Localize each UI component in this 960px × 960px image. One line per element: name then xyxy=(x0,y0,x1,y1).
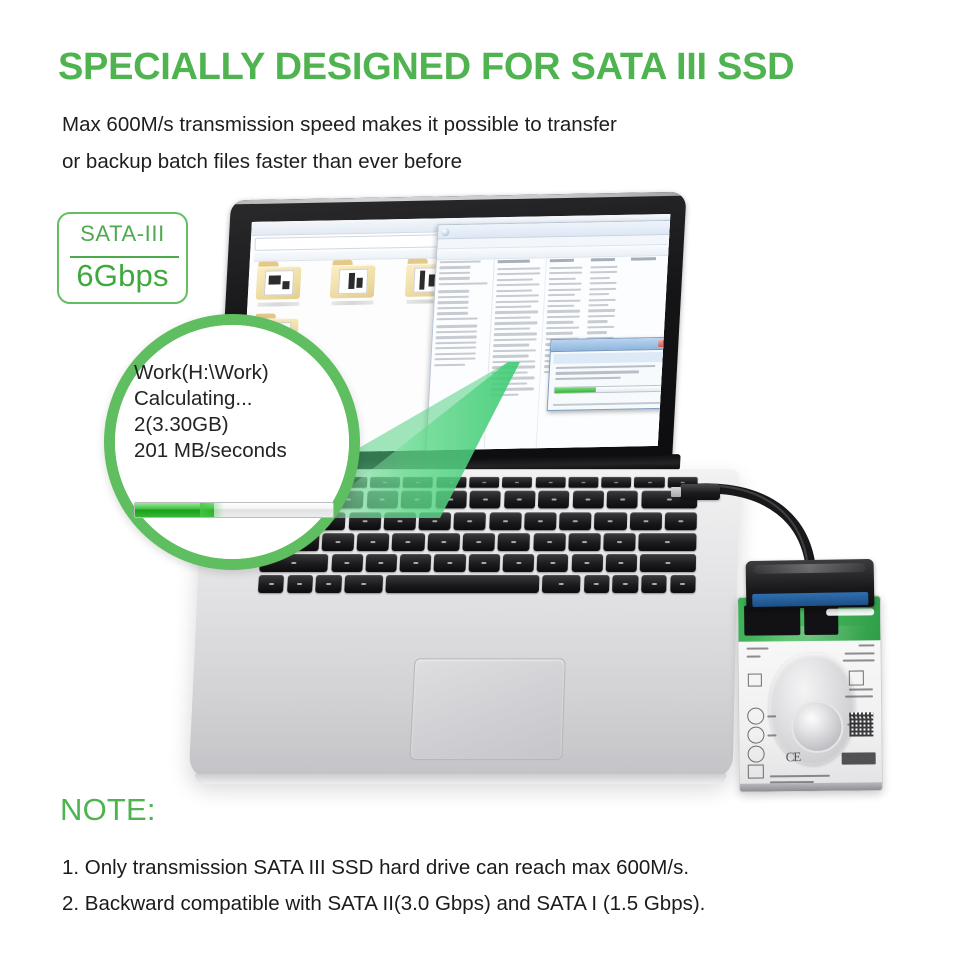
drive-brand-mark xyxy=(826,608,874,616)
note-heading: NOTE: xyxy=(60,792,156,828)
dialog-detail-row xyxy=(555,376,620,380)
folder-icon xyxy=(330,259,378,300)
dialog-heading xyxy=(553,352,666,364)
ssd-hard-drive: CE xyxy=(737,595,883,792)
transfer-progress-bar xyxy=(134,502,334,518)
drive-part-number-label xyxy=(842,752,876,764)
badge-speed-label: 6Gbps xyxy=(59,258,186,294)
dialog-titlebar xyxy=(551,338,670,352)
dialog-detail-row xyxy=(556,365,655,369)
dialog-detail-row xyxy=(556,371,639,375)
subheading-line-1: Max 600M/s transmission speed makes it p… xyxy=(62,115,882,136)
note-item-2: 2. Backward compatible with SATA II(3.0 … xyxy=(62,892,705,916)
transfer-speed: 201 MB/seconds xyxy=(134,438,339,463)
sata-connector xyxy=(752,592,868,607)
sata-speed-badge: SATA-III 6Gbps xyxy=(57,212,188,304)
dialog-progress-bar xyxy=(554,385,664,394)
certification-mark xyxy=(747,726,764,743)
subheading-line-2: or backup batch files faster than ever b… xyxy=(62,152,882,173)
badge-standard-label: SATA-III xyxy=(59,221,186,247)
back-nav-icon xyxy=(441,228,449,236)
transfer-progress-fill xyxy=(135,503,214,517)
dialog-footer-row xyxy=(553,402,660,406)
file-explorer-window-front xyxy=(425,220,670,452)
ce-mark-icon: CE xyxy=(786,749,801,765)
product-graphic: SPECIALLY DESIGNED FOR SATA III SSD Max … xyxy=(0,0,960,960)
warning-triangle-icon xyxy=(748,764,764,778)
folder-icon xyxy=(256,261,304,302)
transfer-size: 2(3.30GB) xyxy=(134,412,339,437)
drive-spindle-hub xyxy=(791,701,844,754)
drive-bottom-edge xyxy=(740,782,882,791)
usb-plug xyxy=(680,484,720,500)
qr-code xyxy=(849,712,873,736)
certification-mark xyxy=(748,674,762,687)
note-item-1: 1. Only transmission SATA III SSD hard d… xyxy=(62,856,689,880)
laptop-trackpad xyxy=(409,658,565,760)
transfer-status-text: Work(H:\Work) Calculating... 2(3.30GB) 2… xyxy=(134,360,339,464)
page-title: SPECIALLY DESIGNED FOR SATA III SSD xyxy=(58,48,918,88)
navigation-tree-pane xyxy=(426,257,495,451)
transfer-state: Calculating... xyxy=(134,386,339,411)
transfer-path: Work(H:\Work) xyxy=(134,360,339,385)
certification-mark xyxy=(849,670,864,685)
close-icon[interactable] xyxy=(658,339,667,346)
certification-mark xyxy=(747,707,764,724)
magnifier-callout: Work(H:\Work) Calculating... 2(3.30GB) 2… xyxy=(104,314,360,570)
drive-logo-block xyxy=(744,605,800,636)
certification-mark xyxy=(748,745,765,762)
sata-to-usb-adapter xyxy=(746,559,875,609)
copy-progress-dialog[interactable] xyxy=(547,337,671,411)
